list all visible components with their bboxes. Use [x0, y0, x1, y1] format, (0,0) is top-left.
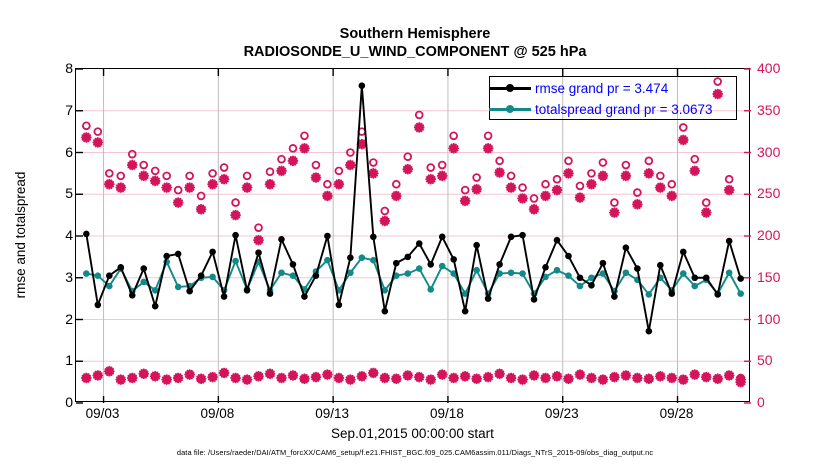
- x-tick-09-13: 09/13: [315, 406, 349, 421]
- rmse-line-swatch: [489, 87, 531, 90]
- y-tick-left-2: 2: [33, 311, 73, 327]
- y-tick-right-200: 200: [757, 227, 805, 243]
- plot-root: Southern Hemisphere RADIOSONDE_U_WIND_CO…: [0, 0, 830, 470]
- totalspread-line-swatch: [489, 108, 531, 111]
- y-tick-right-150: 150: [757, 269, 805, 285]
- x-tick-09-18: 09/18: [430, 406, 464, 421]
- y-tick-left-0: 0: [33, 394, 73, 410]
- y-tick-right-100: 100: [757, 311, 805, 327]
- y-tick-left-1: 1: [33, 352, 73, 368]
- x-tick-09-03: 09/03: [86, 406, 120, 421]
- y-tick-left-6: 6: [33, 144, 73, 160]
- y-tick-right-0: 0: [757, 394, 805, 410]
- y-tick-right-50: 50: [757, 352, 805, 368]
- y-axis-left-label: rmse and totalspread: [13, 172, 28, 299]
- y-tick-left-8: 8: [33, 60, 73, 76]
- legend: rmse grand pr = 3.474 totalspread grand …: [489, 78, 737, 118]
- y-tick-left-7: 7: [33, 102, 73, 118]
- x-tick-09-23: 09/23: [545, 406, 579, 421]
- y-tick-right-350: 350: [757, 102, 805, 118]
- y-tick-right-400: 400: [757, 60, 805, 76]
- legend-entry-rmse[interactable]: rmse grand pr = 3.474: [489, 78, 668, 98]
- y-tick-left-5: 5: [33, 185, 73, 201]
- y-tick-left-3: 3: [33, 269, 73, 285]
- data-file-caption: data file: /Users/raeder/DAI/ATM_forcXX/…: [0, 448, 830, 457]
- y-tick-right-250: 250: [757, 185, 805, 201]
- legend-entry-totalspread[interactable]: totalspread grand pr = 3.0673: [489, 99, 713, 119]
- legend-label-totalspread: totalspread grand pr = 3.0673: [535, 102, 713, 117]
- x-tick-09-28: 09/28: [660, 406, 694, 421]
- y-tick-left-4: 4: [33, 227, 73, 243]
- y-tick-right-300: 300: [757, 144, 805, 160]
- legend-label-rmse: rmse grand pr = 3.474: [535, 81, 668, 96]
- x-axis-label: Sep.01,2015 00:00:00 start: [75, 426, 750, 441]
- title-line-1: Southern Hemisphere: [0, 26, 830, 42]
- x-tick-09-08: 09/08: [200, 406, 234, 421]
- title-line-2: RADIOSONDE_U_WIND_COMPONENT @ 525 hPa: [0, 44, 830, 60]
